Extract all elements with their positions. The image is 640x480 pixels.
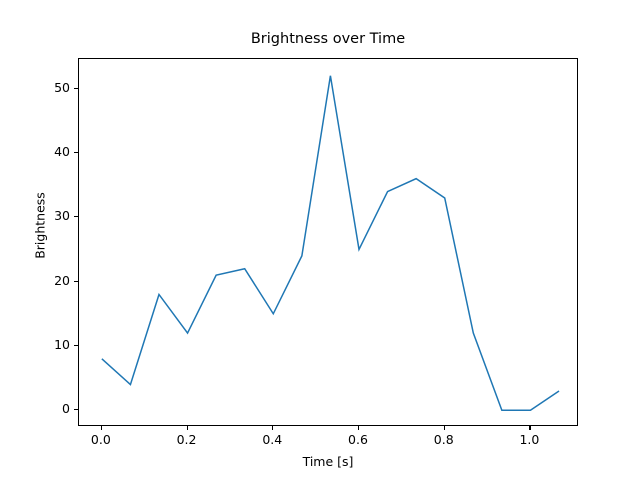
y-tick-label: 40 [26,145,70,158]
x-tick-label: 0.0 [71,433,131,446]
x-tick-label: 0.2 [157,433,217,446]
y-tick-label: 20 [26,274,70,287]
x-axis-label: Time [s] [78,454,578,469]
x-tick-label: 0.4 [242,433,302,446]
y-tick-label: 10 [26,338,70,351]
x-tick-label: 0.8 [414,433,474,446]
y-tick-label: 30 [26,209,70,222]
y-axis-label: Brightness [33,166,48,286]
y-tick-label: 0 [26,402,70,415]
brightness-line-series [102,76,559,411]
chart-title: Brightness over Time [78,30,578,48]
data-line-svg [79,59,579,427]
x-tick-label: 1.0 [499,433,559,446]
plot-area [78,58,578,426]
matplotlib-figure: Brightness over Time Brightness Time [s]… [0,0,640,480]
y-tick-label: 50 [26,81,70,94]
x-tick-label: 0.6 [328,433,388,446]
